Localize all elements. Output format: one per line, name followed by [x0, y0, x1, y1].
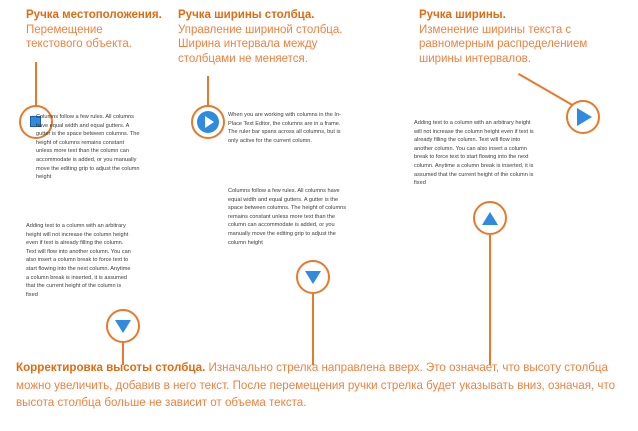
triangle-down-icon-left[interactable]: [115, 320, 131, 333]
callout-location-title: Ручка местоположения.: [26, 8, 176, 23]
column-paragraph: Adding text to a column with an arbitrar…: [414, 119, 538, 188]
column-paragraph: Adding text to a column with an arbitrar…: [26, 222, 134, 299]
callout-location-line-1: Перемещение: [26, 23, 176, 38]
text-column-1-paragraph-1: Columns follow a few rules. All columns …: [36, 113, 140, 190]
triangle-right-blue-icon[interactable]: [577, 108, 592, 126]
triangle-down-icon-middle[interactable]: [305, 271, 321, 284]
callout-width-line-2: равномерным распределением: [419, 37, 629, 52]
triangle-right-icon: [205, 116, 214, 128]
callout-column-width-title: Ручка ширины столбца.: [178, 8, 393, 23]
connector-location: [35, 62, 37, 106]
callout-column-width-line-1: Управление шириной столбца.: [178, 23, 393, 38]
connector-height-right: [489, 235, 491, 365]
callout-column-width-line-2: Ширина интервала между: [178, 37, 393, 52]
text-column-1-paragraph-2: Adding text to a column with an arbitrar…: [26, 222, 134, 307]
callout-column-width-handle: Ручка ширины столбца. Управление шириной…: [178, 8, 393, 66]
callout-column-width-line-3: столбцами не меняется.: [178, 52, 393, 67]
text-column-2-paragraph-1: When you are working with columns in the…: [228, 111, 348, 153]
callout-location-handle: Ручка местоположения. Перемещение тексто…: [26, 8, 176, 52]
column-paragraph: Columns follow a few rules. All columns …: [228, 187, 348, 247]
callout-width-title: Ручка ширины.: [419, 8, 629, 23]
triangle-up-icon-right[interactable]: [482, 212, 498, 225]
bottom-caption: Корректировка высоты столбца. Изначально…: [16, 359, 624, 412]
connector-column-width: [207, 76, 209, 106]
illustration-canvas: Ручка местоположения. Перемещение тексто…: [0, 0, 638, 431]
bottom-caption-title: Корректировка высоты столбца.: [16, 361, 205, 374]
connector-width: [518, 73, 573, 106]
callout-width-handle: Ручка ширины. Изменение ширины текста с …: [419, 8, 629, 66]
callout-width-line-1: Изменение ширины текста с: [419, 23, 629, 38]
column-paragraph: When you are working with columns in the…: [228, 111, 348, 145]
connector-height-middle: [312, 294, 314, 365]
callout-location-line-2: текстового объекта.: [26, 37, 176, 52]
text-column-3-paragraph-1: Adding text to a column with an arbitrar…: [414, 119, 538, 196]
column-paragraph: Columns follow a few rules. All columns …: [36, 113, 140, 182]
callout-width-line-3: ширины интервалов.: [419, 52, 629, 67]
text-column-2-paragraph-2: Columns follow a few rules. All columns …: [228, 187, 348, 255]
